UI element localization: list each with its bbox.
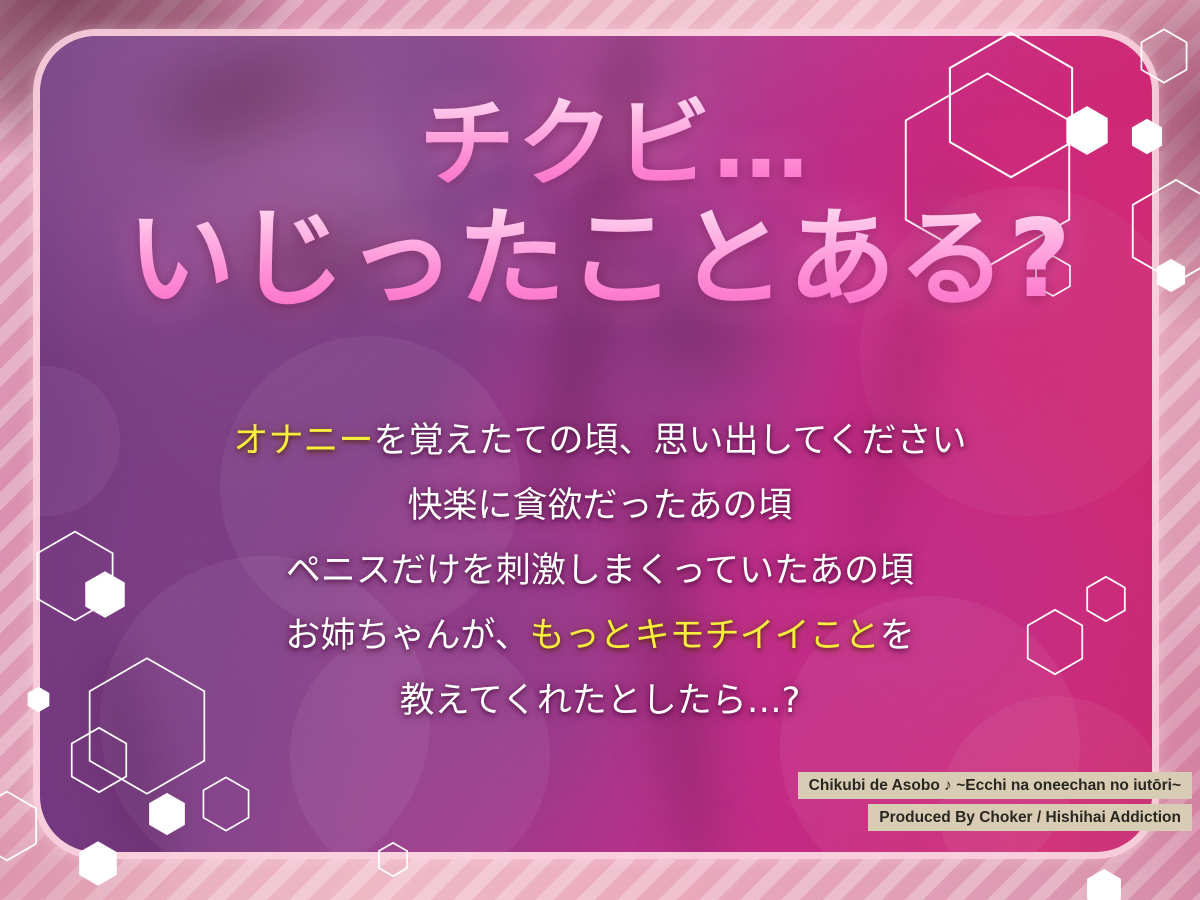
producer-credit-plate: Produced By Choker / Hishihai Addiction <box>868 804 1192 831</box>
hexagon-filled-icon <box>1065 105 1109 156</box>
body-line: お姉ちゃんが、もっとキモチイイことを <box>0 619 1200 654</box>
footer-plates: Chikubi de Asobo ♪ ~Ecchi na oneechan no… <box>798 772 1192 831</box>
romaji-title-plate: Chikubi de Asobo ♪ ~Ecchi na oneechan no… <box>798 772 1192 799</box>
hexagon-filled-icon <box>1131 118 1163 155</box>
hexagon-outline-icon <box>0 790 38 862</box>
body-line: オナニーを覚えたての頃、思い出してください <box>0 424 1200 459</box>
hexagon-outline-icon <box>900 70 1075 270</box>
body-text: ペニスだけを刺激しまくっていたあの頃 <box>286 551 914 591</box>
hexagon-outline-icon <box>202 776 250 832</box>
body-text: 教えてくれたとしたら…? <box>400 681 801 721</box>
body-text: を <box>880 616 915 656</box>
hexagon-outline-icon <box>1140 28 1188 84</box>
hexagon-filled-icon <box>1086 868 1122 900</box>
hexagon-filled-icon <box>148 792 186 836</box>
body-text: お姉ちゃんが、 <box>285 616 529 656</box>
body-text: を覚えたての頃、思い出してください <box>374 421 967 461</box>
hexagon-filled-icon <box>78 840 118 887</box>
hexagon-outline-icon <box>378 842 408 877</box>
body-highlight: オナニー <box>234 421 374 461</box>
body-line: 快楽に貪欲だったあの頃 <box>0 489 1200 524</box>
hexagon-filled-icon <box>1156 258 1186 293</box>
hexagon-outline-icon <box>1035 255 1071 297</box>
body-copy: オナニーを覚えたての頃、思い出してください 快楽に貪欲だったあの頃 ペニスだけを… <box>0 424 1200 749</box>
body-text: 快楽に貪欲だったあの頃 <box>407 486 792 526</box>
body-line: 教えてくれたとしたら…? <box>0 684 1200 719</box>
poster-stage: チクビ… いじったことある? オナニーを覚えたての頃、思い出してください 快楽に… <box>0 0 1200 900</box>
body-line: ペニスだけを刺激しまくっていたあの頃 <box>0 554 1200 589</box>
body-highlight: もっとキモチイイこと <box>530 616 880 656</box>
